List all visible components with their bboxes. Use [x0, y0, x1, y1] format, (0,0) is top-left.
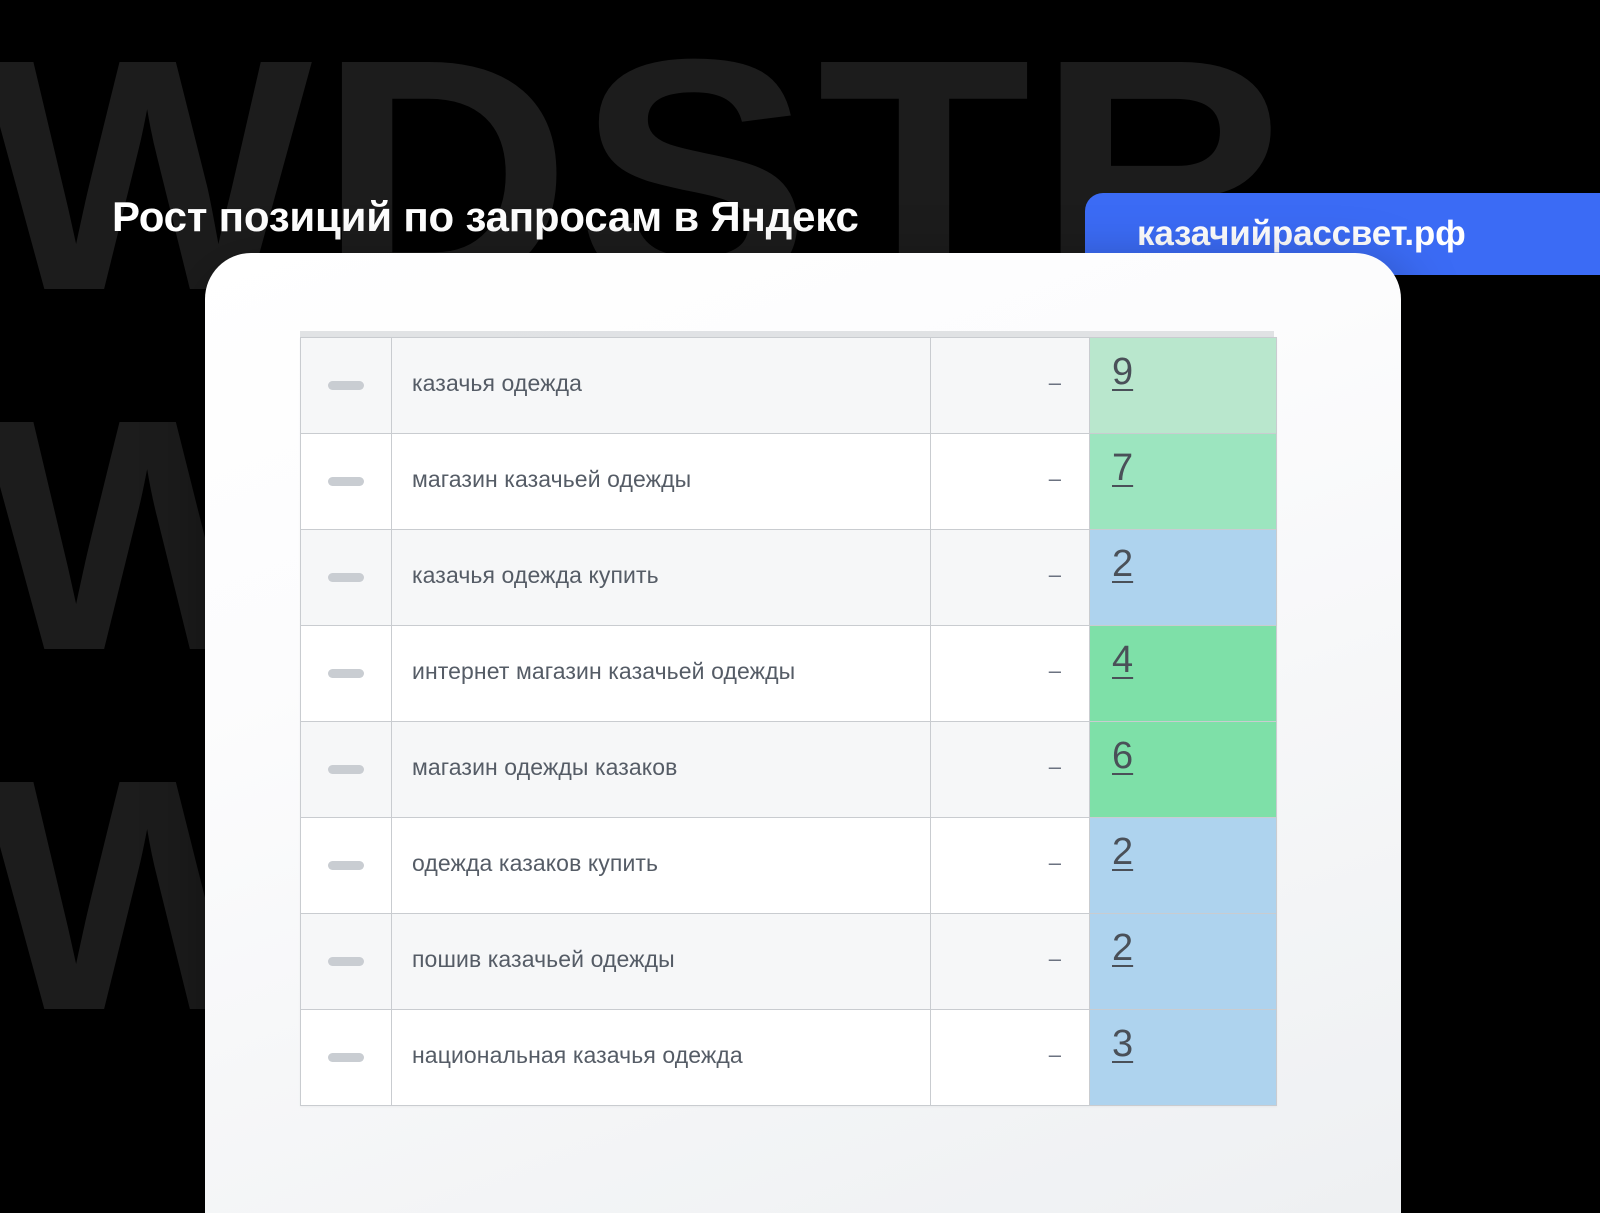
change-cell: – [931, 434, 1090, 530]
change-value: – [931, 914, 1089, 972]
rank-table-container: казачья одежда–9магазин казачьей одежды–… [300, 337, 1274, 1106]
position-value[interactable]: 2 [1090, 818, 1276, 874]
change-value: – [931, 1010, 1089, 1068]
rank-table-body: казачья одежда–9магазин казачьей одежды–… [301, 338, 1277, 1106]
dash-icon [328, 573, 364, 582]
query-text: пошив казачьей одежды [392, 914, 930, 974]
row-flag-cell [301, 434, 392, 530]
dash-icon [328, 1053, 364, 1062]
change-cell: – [931, 626, 1090, 722]
table-row[interactable]: национальная казачья одежда–3 [301, 1010, 1277, 1106]
row-flag-cell [301, 818, 392, 914]
domain-badge-label: казачийрассвет.рф [1137, 214, 1466, 254]
table-row[interactable]: казачья одежда–9 [301, 338, 1277, 434]
position-value[interactable]: 6 [1090, 722, 1276, 778]
position-cell[interactable]: 3 [1090, 1010, 1277, 1106]
change-value: – [931, 818, 1089, 876]
position-value[interactable]: 7 [1090, 434, 1276, 490]
dash-icon [328, 861, 364, 870]
dash-icon [328, 381, 364, 390]
query-cell[interactable]: магазин одежды казаков [392, 722, 931, 818]
table-row[interactable]: пошив казачьей одежды–2 [301, 914, 1277, 1010]
change-cell: – [931, 722, 1090, 818]
position-cell[interactable]: 2 [1090, 914, 1277, 1010]
dash-icon [328, 765, 364, 774]
table-row[interactable]: магазин одежды казаков–6 [301, 722, 1277, 818]
change-value: – [931, 434, 1089, 492]
position-cell[interactable]: 2 [1090, 530, 1277, 626]
query-text: национальная казачья одежда [392, 1010, 930, 1070]
dash-icon [328, 477, 364, 486]
position-value[interactable]: 9 [1090, 338, 1276, 394]
table-row[interactable]: казачья одежда купить–2 [301, 530, 1277, 626]
page-title: Рост позиций по запросам в Яндекс [112, 196, 859, 238]
header-bar: Рост позиций по запросам в Яндекс казачи… [0, 88, 1600, 200]
query-text: одежда казаков купить [392, 818, 930, 878]
position-cell[interactable]: 7 [1090, 434, 1277, 530]
row-flag-cell [301, 530, 392, 626]
position-cell[interactable]: 4 [1090, 626, 1277, 722]
change-cell: – [931, 914, 1090, 1010]
position-cell[interactable]: 6 [1090, 722, 1277, 818]
position-cell[interactable]: 2 [1090, 818, 1277, 914]
change-cell: – [931, 1010, 1090, 1106]
query-text: интернет магазин казачьей одежды [392, 626, 930, 686]
change-cell: – [931, 818, 1090, 914]
row-flag-cell [301, 338, 392, 434]
dash-icon [328, 957, 364, 966]
query-text: магазин казачьей одежды [392, 434, 930, 494]
query-cell[interactable]: казачья одежда купить [392, 530, 931, 626]
row-flag-cell [301, 1010, 392, 1106]
change-value: – [931, 530, 1089, 588]
position-value[interactable]: 3 [1090, 1010, 1276, 1066]
query-cell[interactable]: национальная казачья одежда [392, 1010, 931, 1106]
query-cell[interactable]: казачья одежда [392, 338, 931, 434]
query-text: магазин одежды казаков [392, 722, 930, 782]
query-cell[interactable]: пошив казачьей одежды [392, 914, 931, 1010]
row-flag-cell [301, 914, 392, 1010]
change-cell: – [931, 530, 1090, 626]
position-value[interactable]: 2 [1090, 530, 1276, 586]
query-cell[interactable]: интернет магазин казачьей одежды [392, 626, 931, 722]
change-cell: – [931, 338, 1090, 434]
table-row[interactable]: одежда казаков купить–2 [301, 818, 1277, 914]
change-value: – [931, 722, 1089, 780]
query-cell[interactable]: одежда казаков купить [392, 818, 931, 914]
position-value[interactable]: 4 [1090, 626, 1276, 682]
dash-icon [328, 669, 364, 678]
query-cell[interactable]: магазин казачьей одежды [392, 434, 931, 530]
table-row[interactable]: магазин казачьей одежды–7 [301, 434, 1277, 530]
query-text: казачья одежда купить [392, 530, 930, 590]
change-value: – [931, 626, 1089, 684]
rank-table: казачья одежда–9магазин казачьей одежды–… [300, 337, 1277, 1106]
row-flag-cell [301, 722, 392, 818]
query-text: казачья одежда [392, 338, 930, 398]
position-cell[interactable]: 9 [1090, 338, 1277, 434]
row-flag-cell [301, 626, 392, 722]
screenshot-card: казачья одежда–9магазин казачьей одежды–… [205, 253, 1401, 1213]
position-value[interactable]: 2 [1090, 914, 1276, 970]
change-value: – [931, 338, 1089, 396]
table-row[interactable]: интернет магазин казачьей одежды–4 [301, 626, 1277, 722]
